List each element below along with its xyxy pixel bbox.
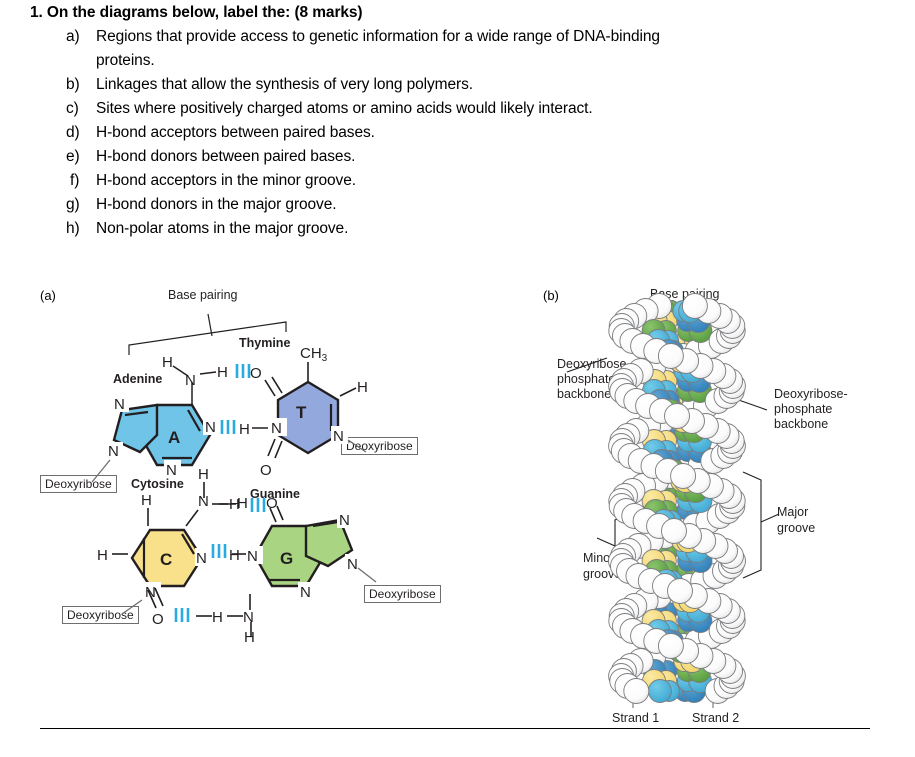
question-text-a-cont: proteins. (96, 52, 155, 70)
major-groove-bracket (743, 472, 779, 578)
thymine-n3-label: N (271, 420, 282, 437)
question-text-a: Regions that provide access to genetic i… (96, 28, 660, 46)
guanine-amino-h-label: H (244, 629, 255, 646)
guanine-n7-label: N (339, 512, 350, 529)
guanine-deoxyribose-bond (358, 568, 376, 582)
question-text-f: H-bond acceptors in the minor groove. (96, 172, 356, 190)
guanine-o6-label: O (266, 495, 278, 512)
question-letter-g: g) (66, 196, 92, 214)
hbond-at-upper (237, 364, 249, 378)
question-text-c: Sites where positively charged atoms or … (96, 100, 593, 118)
page-title: 1. On the diagrams below, label the: (8 … (30, 4, 362, 22)
guanine-n9-label: N (347, 556, 358, 573)
cytosine-amino-h-label: H (198, 466, 209, 483)
question-text-g: H-bond donors in the major groove. (96, 196, 336, 214)
cytosine-amino-n-label: N (198, 493, 209, 510)
thymine-n1-label: N (333, 428, 344, 445)
thymine-h3-label: H (239, 421, 250, 438)
adenine-amino-h1-label: H (162, 354, 173, 371)
thymine-h6-label: H (357, 379, 368, 396)
guanine-n3-label: N (300, 584, 311, 601)
cytosine-h6-label: H (97, 547, 108, 564)
cytosine-deoxyribose-bond (122, 600, 142, 614)
adenine-thymine-basepair-diagram: A N N N N N H H H T (100, 300, 420, 490)
thymine-deoxyribose-bond (348, 440, 366, 452)
question-letter-d: d) (66, 124, 92, 142)
question-text-b: Linkages that allow the synthesis of ver… (96, 76, 473, 94)
guanine-n1-label: N (247, 548, 258, 565)
question-letter-f: f) (70, 172, 96, 190)
thymine-molecule: T (278, 382, 338, 453)
adenine-amino-n-label: N (185, 372, 196, 389)
adenine-n9-label: N (108, 443, 119, 460)
adenine-n1-bottom-label: N (166, 462, 177, 479)
question-letter-h: h) (66, 220, 92, 238)
cytosine-molecule: C (132, 530, 202, 586)
cytosine-o2-label: O (152, 611, 164, 628)
thymine-ring (278, 382, 338, 453)
cg-bridge-h1-label: H (237, 495, 248, 512)
question-letter-b: b) (66, 76, 92, 94)
strand2-label: Strand 2 (692, 711, 739, 725)
dna-double-helix-diagram (595, 300, 795, 710)
hbond-cg-lower (176, 608, 188, 622)
adenine-n-top-label: N (114, 396, 125, 413)
hbond-cg-middle (213, 544, 225, 558)
question-text-e: H-bond donors between paired bases. (96, 148, 355, 166)
question-text-h: Non-polar atoms in the major groove. (96, 220, 348, 238)
cytosine-guanine-basepair-diagram: C N N H H N H H O (100, 482, 420, 642)
bottom-divider (40, 728, 870, 729)
thymine-c6h-bond (340, 388, 356, 396)
cg-bridge-h2-label: H (229, 547, 240, 564)
cg-bridge-h3-label: H (212, 609, 223, 626)
cytosine-h5-label: H (141, 492, 152, 509)
cytosine-letter: C (160, 550, 172, 569)
adenine-n1-label: N (205, 419, 216, 436)
helix-space-filling-spheres (609, 294, 746, 704)
thymine-o2-label: O (260, 462, 272, 479)
guanine-molecule: G (255, 520, 352, 586)
question-letter-c: c) (66, 100, 92, 118)
guanine-letter: G (280, 549, 293, 568)
question-letter-a: a) (66, 28, 92, 46)
thymine-methyl-label: CH3 (300, 345, 328, 364)
cytosine-n3-label: N (196, 550, 207, 567)
cytosine-n1-label: N (145, 584, 156, 601)
hbond-at-lower (222, 420, 234, 434)
adenine-letter: A (168, 428, 180, 447)
thymine-letter: T (296, 403, 307, 422)
adenine-amino-h2-label: H (217, 364, 228, 381)
guanine-amino-n-label: N (243, 609, 254, 626)
hbond-cg-upper (252, 498, 264, 512)
strand1-label: Strand 1 (612, 711, 659, 725)
adenine-molecule: A (114, 405, 210, 465)
panel-b-tag: (b) (543, 288, 559, 303)
question-letter-e: e) (66, 148, 92, 166)
panel-a-tag: (a) (40, 288, 56, 303)
base-pairing-bracket-a (129, 314, 286, 355)
thymine-o4-label: O (250, 365, 262, 382)
question-text-d: H-bond acceptors between paired bases. (96, 124, 375, 142)
adenine-deoxyribose-bond (92, 460, 110, 482)
